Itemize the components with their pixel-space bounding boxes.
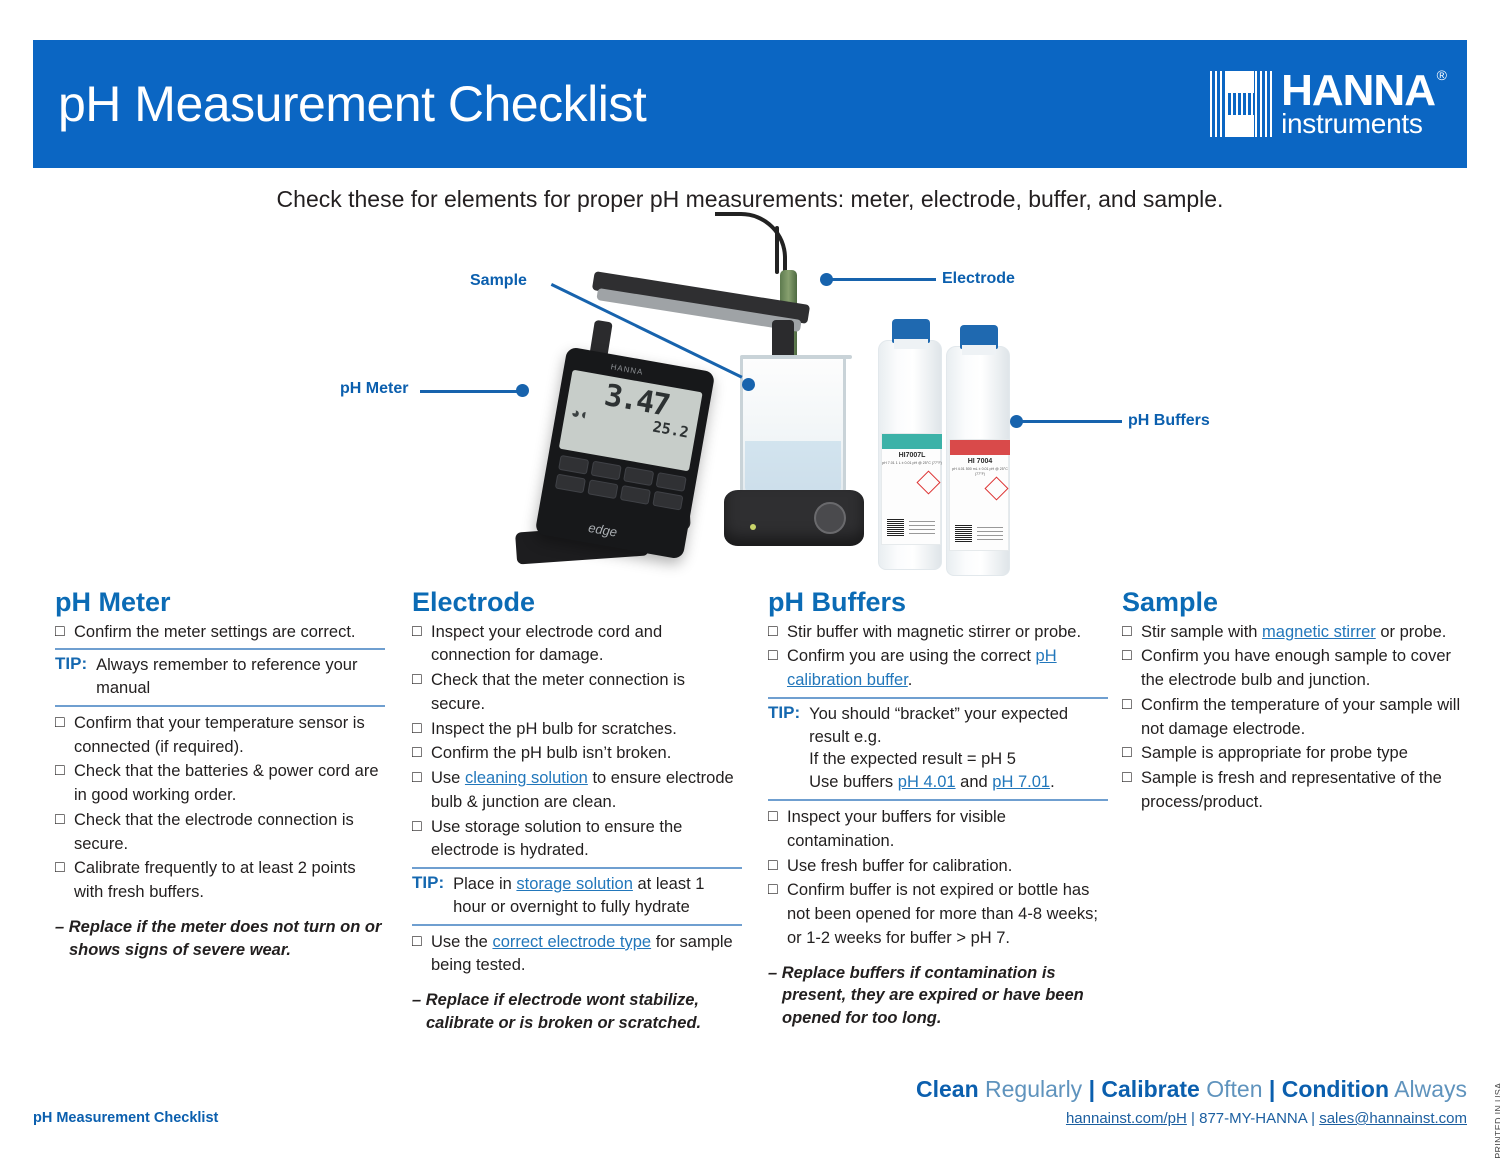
checklist: Confirm that your temperature sensor is …: [55, 712, 385, 905]
checklist-item[interactable]: Inspect your buffers for visible contami…: [768, 806, 1108, 854]
sample-liquid: [745, 441, 841, 493]
checklist: Inspect your buffers for visible contami…: [768, 806, 1108, 951]
checklist-item[interactable]: Sample is appropriate for probe type: [1122, 742, 1462, 766]
meter-brand-label: HANNA: [610, 362, 644, 377]
callout-line-ph-buffers: [1020, 420, 1122, 423]
text-fragment: Check that the batteries & power cord ar…: [74, 762, 379, 804]
text-fragment: Confirm the temperature of your sample w…: [1141, 696, 1460, 738]
bottle-label-band: [882, 434, 942, 449]
registered-icon: ®: [1437, 69, 1446, 82]
callout-line-electrode: [830, 278, 936, 281]
bottle-name: HI7007L: [882, 452, 942, 459]
tagline-word-2: Often: [1206, 1076, 1262, 1102]
column-heading-ph-meter: pH Meter: [55, 588, 385, 618]
stirrer-knob: [814, 502, 846, 534]
tagline-word-3: Always: [1394, 1076, 1467, 1102]
tip-label: TIP:: [412, 873, 444, 919]
callout-label-electrode: Electrode: [942, 270, 1015, 288]
print-code: pH Measurement Checklist 1.0 7/2017 PRIN…: [1494, 1083, 1500, 1159]
checklist-item[interactable]: Stir buffer with magnetic stirrer or pro…: [768, 621, 1108, 645]
tip-box: TIP:You should “bracket” your expected r…: [768, 697, 1108, 801]
text-fragment: Use storage solution to ensure the elect…: [431, 818, 682, 860]
checklist-item[interactable]: Use fresh buffer for calibration.: [768, 855, 1108, 879]
checklist-item[interactable]: Confirm the temperature of your sample w…: [1122, 694, 1462, 742]
text-fragment: Check that the electrode connection is s…: [74, 811, 354, 853]
text-fragment: Calibrate frequently to at least 2 point…: [74, 859, 356, 901]
checklist-item[interactable]: Calibrate frequently to at least 2 point…: [55, 857, 385, 905]
tagline-sep-1: |: [1089, 1076, 1095, 1102]
callout-dot-sample: [742, 378, 755, 391]
replace-note: – Replace if the meter does not turn on …: [55, 916, 385, 962]
bottle-hazard-icon: [916, 470, 940, 494]
tip-text: Place in storage solution at least 1 hou…: [453, 873, 742, 919]
checklist: Confirm the meter settings are correct.: [55, 621, 385, 645]
bottle-neck: [894, 339, 928, 349]
text-fragment: .: [1050, 773, 1055, 791]
meter-icons: ◕◖: [570, 404, 589, 424]
checklist: Stir buffer with magnetic stirrer or pro…: [768, 621, 1108, 693]
checklist-item[interactable]: Check that the batteries & power cord ar…: [55, 760, 385, 808]
bottle-hazard-icon: [984, 476, 1008, 500]
text-fragment: or probe.: [1376, 623, 1447, 641]
checklist-item[interactable]: Confirm you have enough sample to cover …: [1122, 645, 1462, 693]
text-fragment: Use fresh buffer for calibration.: [787, 857, 1012, 875]
inline-link[interactable]: pH 7.01: [992, 773, 1050, 791]
text-fragment: Confirm you have enough sample to cover …: [1141, 647, 1451, 689]
meter-key[interactable]: [656, 472, 687, 492]
checklist-item[interactable]: Use the correct electrode type for sampl…: [412, 931, 742, 979]
tagline-word-1: Regularly: [985, 1076, 1082, 1102]
bottle-qr-icon: [887, 519, 904, 536]
footer-phone: 877-MY-HANNA: [1199, 1110, 1307, 1127]
inline-link[interactable]: magnetic stirrer: [1262, 623, 1376, 641]
logo-brand: HANNA®: [1281, 71, 1435, 111]
buffer-bottle-2: HI 7004 pH 4.01 500 mL ± 0.01 pH @ 25°C …: [946, 346, 1010, 576]
text-fragment: Use: [431, 769, 465, 787]
meter-key[interactable]: [623, 466, 654, 486]
text-fragment: Inspect your electrode cord and connecti…: [431, 623, 662, 665]
replace-note: – Replace buffers if contamination is pr…: [768, 962, 1108, 1030]
text-fragment: and: [956, 773, 993, 791]
footer-doc-title: pH Measurement Checklist: [33, 1110, 218, 1126]
footer-sep-1: |: [1191, 1110, 1195, 1127]
meter-screen: 3.47 ◕◖ 25.2: [559, 370, 703, 472]
electrode-cord-vertical: [775, 226, 779, 274]
checklist-item[interactable]: Stir sample with magnetic stirrer or pro…: [1122, 621, 1462, 645]
checklist-item[interactable]: Confirm you are using the correct pH cal…: [768, 645, 1108, 693]
text-fragment: If the expected result = pH 5: [809, 750, 1016, 768]
column-heading-ph-buffers: pH Buffers: [768, 588, 1108, 618]
checklist-item[interactable]: Confirm buffer is not expired or bottle …: [768, 879, 1108, 950]
column-heading-sample: Sample: [1122, 588, 1462, 618]
checklist-item[interactable]: Inspect your electrode cord and connecti…: [412, 621, 742, 669]
text-fragment: Use the: [431, 933, 492, 951]
meter-model-label: edge: [587, 520, 618, 540]
checklist-item[interactable]: Confirm that your temperature sensor is …: [55, 712, 385, 760]
checklist-item[interactable]: Confirm the meter settings are correct.: [55, 621, 385, 645]
stirrer-led-icon: [750, 524, 756, 530]
logo-sub: instruments: [1281, 111, 1435, 137]
text-fragment: Use buffers: [809, 773, 898, 791]
footer-links: hannainst.com/pH | 877-MY-HANNA | sales@…: [1066, 1110, 1467, 1127]
tip-box: TIP:Place in storage solution at least 1…: [412, 867, 742, 926]
callout-dot-ph-meter: [516, 384, 529, 397]
buffer-bottle-1: HI7007L pH 7.01 1 L ± 0.01 pH @ 25°C (77…: [878, 340, 942, 570]
meter-key[interactable]: [555, 474, 586, 494]
text-fragment: Sample is appropriate for probe type: [1141, 744, 1408, 762]
text-fragment: Check that the meter connection is secur…: [431, 671, 685, 713]
bottle-sub: pH 4.01 500 mL ± 0.01 pH @ 25°C (77°F): [950, 467, 1010, 478]
callout-label-sample: Sample: [470, 272, 527, 290]
page-header: pH Measurement Checklist HANNA® instrume…: [33, 40, 1467, 168]
column-sample: SampleStir sample with magnetic stirrer …: [1122, 588, 1462, 816]
text-fragment: Place in: [453, 875, 516, 893]
tip-text: Always remember to reference your manual: [96, 654, 385, 700]
callout-line-ph-meter: [420, 390, 520, 393]
footer-website-link[interactable]: hannainst.com/pH: [1066, 1110, 1187, 1127]
text-fragment: Stir buffer with magnetic stirrer or pro…: [787, 623, 1081, 641]
sample-beaker: [740, 358, 846, 498]
text-fragment: Stir sample with: [1141, 623, 1262, 641]
bottle-neck: [962, 345, 996, 355]
inline-link[interactable]: pH 4.01: [898, 773, 956, 791]
tip-label: TIP:: [55, 654, 87, 700]
bottle-label: HI 7004 pH 4.01 500 mL ± 0.01 pH @ 25°C …: [949, 439, 1009, 551]
text-fragment: Always remember to reference your manual: [96, 656, 357, 697]
meter-key[interactable]: [620, 485, 651, 505]
tip-box: TIP:Always remember to reference your ma…: [55, 648, 385, 707]
text-fragment: Confirm you are using the correct: [787, 647, 1036, 665]
checklist-item[interactable]: Check that the electrode connection is s…: [55, 809, 385, 857]
callout-label-ph-buffers: pH Buffers: [1128, 412, 1210, 430]
text-fragment: Confirm buffer is not expired or bottle …: [787, 881, 1098, 947]
text-fragment: Inspect your buffers for visible contami…: [787, 808, 1006, 850]
product-diagram: HANNA 3.47 ◕◖ 25.2 edge: [320, 228, 1180, 583]
checklist-item[interactable]: Use cleaning solution to ensure electrod…: [412, 767, 742, 815]
inline-link[interactable]: correct electrode type: [492, 933, 651, 951]
tagline-word-1-bold: Clean: [916, 1076, 979, 1102]
inline-link[interactable]: storage solution: [516, 875, 633, 893]
meter-temperature: 25.2: [651, 418, 690, 442]
tip-label: TIP:: [768, 703, 800, 794]
tagline-sep-2: |: [1269, 1076, 1275, 1102]
column-electrode: ElectrodeInspect your electrode cord and…: [412, 588, 742, 1035]
meter-key[interactable]: [587, 479, 618, 499]
checklist: Use the correct electrode type for sampl…: [412, 931, 742, 979]
bottle-label-lines: [977, 524, 1003, 540]
tagline-word-2-bold: Calibrate: [1101, 1076, 1199, 1102]
footer-email-link[interactable]: sales@hannainst.com: [1319, 1110, 1467, 1127]
text-fragment: Inspect the pH bulb for scratches.: [431, 720, 677, 738]
bottle-label-band: [950, 440, 1010, 455]
poster-page: pH Measurement Checklist HANNA® instrume…: [0, 0, 1500, 1159]
magnetic-stirrer: [724, 490, 864, 546]
page-title: pH Measurement Checklist: [58, 75, 646, 133]
meter-key[interactable]: [652, 491, 683, 511]
meter-reading: 3.47: [602, 378, 671, 424]
tip-text: You should “bracket” your expected resul…: [809, 703, 1108, 794]
checklist: Stir sample with magnetic stirrer or pro…: [1122, 621, 1462, 815]
text-fragment: Confirm the meter settings are correct.: [74, 623, 356, 641]
column-ph-buffers: pH BuffersStir buffer with magnetic stir…: [768, 588, 1108, 1030]
bottle-label-lines: [909, 518, 935, 534]
checklist: Inspect your electrode cord and connecti…: [412, 621, 742, 864]
checklist-item[interactable]: Inspect the pH bulb for scratches.: [412, 718, 742, 742]
checklist-item[interactable]: Sample is fresh and representative of th…: [1122, 767, 1462, 815]
text-fragment: Sample is fresh and representative of th…: [1141, 769, 1442, 811]
bottle-sub: pH 7.01 1 L ± 0.01 pH @ 25°C (77°F): [882, 461, 942, 466]
checklist-item[interactable]: Confirm the pH bulb isn’t broken.: [412, 742, 742, 766]
callout-label-ph-meter: pH Meter: [340, 380, 408, 398]
text-fragment: Confirm that your temperature sensor is …: [74, 714, 365, 756]
tagline-word-3-bold: Condition: [1282, 1076, 1389, 1102]
bottle-label: HI7007L pH 7.01 1 L ± 0.01 pH @ 25°C (77…: [881, 433, 941, 545]
meter-key[interactable]: [591, 461, 622, 481]
meter-key[interactable]: [558, 455, 589, 475]
footer-tagline: Clean Regularly | Calibrate Often | Cond…: [916, 1076, 1467, 1103]
replace-note: – Replace if electrode wont stabilize, c…: [412, 989, 742, 1035]
column-heading-electrode: Electrode: [412, 588, 742, 618]
hanna-logo: HANNA® instruments: [1210, 71, 1445, 137]
text-fragment: You should “bracket” your expected resul…: [809, 705, 1068, 746]
footer-sep-2: |: [1311, 1110, 1315, 1127]
page-subtitle: Check these for elements for proper pH m…: [0, 186, 1500, 213]
checklist-item[interactable]: Use storage solution to ensure the elect…: [412, 816, 742, 864]
bottle-qr-icon: [955, 525, 972, 542]
inline-link[interactable]: cleaning solution: [465, 769, 588, 787]
hanna-logo-mark-icon: [1210, 71, 1272, 137]
bottle-name: HI 7004: [950, 458, 1010, 465]
text-fragment: .: [908, 671, 913, 689]
column-ph-meter: pH MeterConfirm the meter settings are c…: [55, 588, 385, 962]
checklist-item[interactable]: Check that the meter connection is secur…: [412, 669, 742, 717]
text-fragment: Confirm the pH bulb isn’t broken.: [431, 744, 671, 762]
